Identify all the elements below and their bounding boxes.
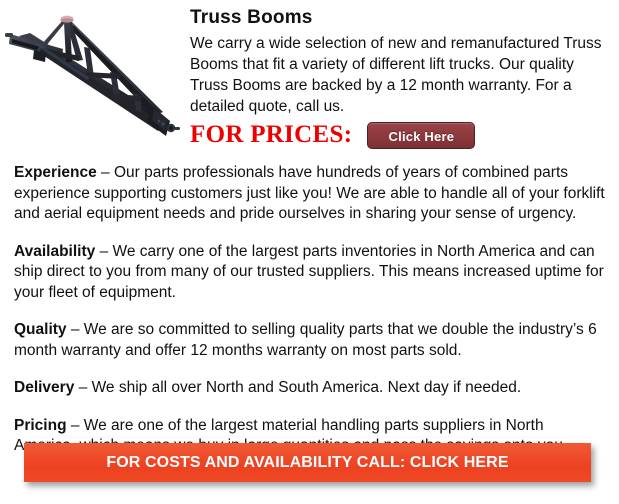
product-header-section: Truss Booms We carry a wide selection of… bbox=[0, 0, 619, 160]
feature-experience: Experience – Our parts professionals hav… bbox=[14, 163, 606, 225]
intro-block: Truss Booms We carry a wide selection of… bbox=[190, 0, 619, 117]
feature-dash-quality: – bbox=[67, 321, 84, 338]
for-prices-label: FOR PRICES: bbox=[190, 120, 352, 150]
truss-boom-product-image bbox=[0, 0, 190, 160]
intro-paragraph: We carry a wide selection of new and rem… bbox=[190, 33, 602, 117]
feature-text-quality: We are so committed to selling quality p… bbox=[14, 321, 597, 359]
feature-dash-availability: – bbox=[95, 243, 112, 260]
features-list: Experience – Our parts professionals hav… bbox=[14, 163, 606, 457]
click-here-button[interactable]: Click Here bbox=[367, 122, 475, 149]
feature-text-delivery: We ship all over North and South America… bbox=[92, 379, 522, 396]
page-title: Truss Booms bbox=[190, 6, 619, 30]
feature-term-delivery: Delivery bbox=[14, 379, 74, 396]
feature-quality: Quality – We are so committed to selling… bbox=[14, 320, 606, 361]
cta-call-banner-button[interactable]: FOR COSTS AND AVAILABILITY CALL: CLICK H… bbox=[24, 443, 591, 482]
feature-availability: Availability – We carry one of the large… bbox=[14, 242, 606, 304]
feature-term-pricing: Pricing bbox=[14, 417, 67, 434]
feature-dash-delivery: – bbox=[74, 379, 91, 396]
feature-term-availability: Availability bbox=[14, 243, 95, 260]
feature-dash-pricing: – bbox=[67, 417, 84, 434]
for-prices-row: FOR PRICES: Click Here bbox=[190, 120, 475, 150]
feature-term-experience: Experience bbox=[14, 164, 97, 181]
feature-dash-experience: – bbox=[97, 164, 114, 181]
feature-delivery: Delivery – We ship all over North and So… bbox=[14, 378, 606, 399]
feature-term-quality: Quality bbox=[14, 321, 67, 338]
